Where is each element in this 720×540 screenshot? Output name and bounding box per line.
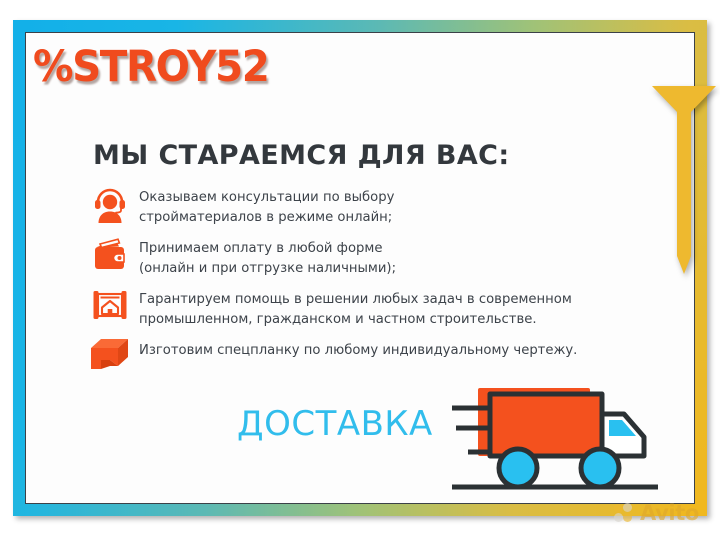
list-item: Оказываем консультации по выбору стройма…	[90, 186, 630, 228]
list-item-label: Гарантируем помощь в решении любых задач…	[139, 288, 572, 330]
avito-watermark: Avito	[614, 501, 699, 525]
list-item-label: Принимаем оплату в любой форме (онлайн и…	[139, 237, 396, 279]
avito-dots-icon	[614, 503, 638, 523]
list-item: Изготовим спецпланку по любому индивидуа…	[90, 339, 630, 381]
poster-canvas: %STROY52 МЫ СТАРАЕМСЯ ДЛЯ ВАС: Оказываем…	[0, 0, 720, 540]
wallet-icon	[90, 237, 130, 279]
list-item-label: Изготовим спецпланку по любому индивидуа…	[139, 339, 577, 361]
benefits-list: Оказываем консультации по выбору стройма…	[90, 186, 630, 390]
page-title: МЫ СТАРАЕМСЯ ДЛЯ ВАС:	[93, 140, 510, 171]
brand-logo: %STROY52	[33, 42, 268, 92]
down-arrow-decoration	[652, 86, 716, 286]
avito-wordmark: Avito	[640, 501, 699, 525]
delivery-truck-illustration	[452, 382, 672, 507]
list-item: Гарантируем помощь в решении любых задач…	[90, 288, 630, 330]
house-blueprint-icon	[90, 288, 130, 330]
list-item-label: Оказываем консультации по выбору стройма…	[139, 186, 394, 228]
delivery-label: ДОСТАВКА	[237, 404, 433, 444]
list-item: Принимаем оплату в любой форме (онлайн и…	[90, 237, 630, 279]
headset-support-icon	[90, 186, 130, 228]
steel-beam-icon	[90, 339, 130, 381]
